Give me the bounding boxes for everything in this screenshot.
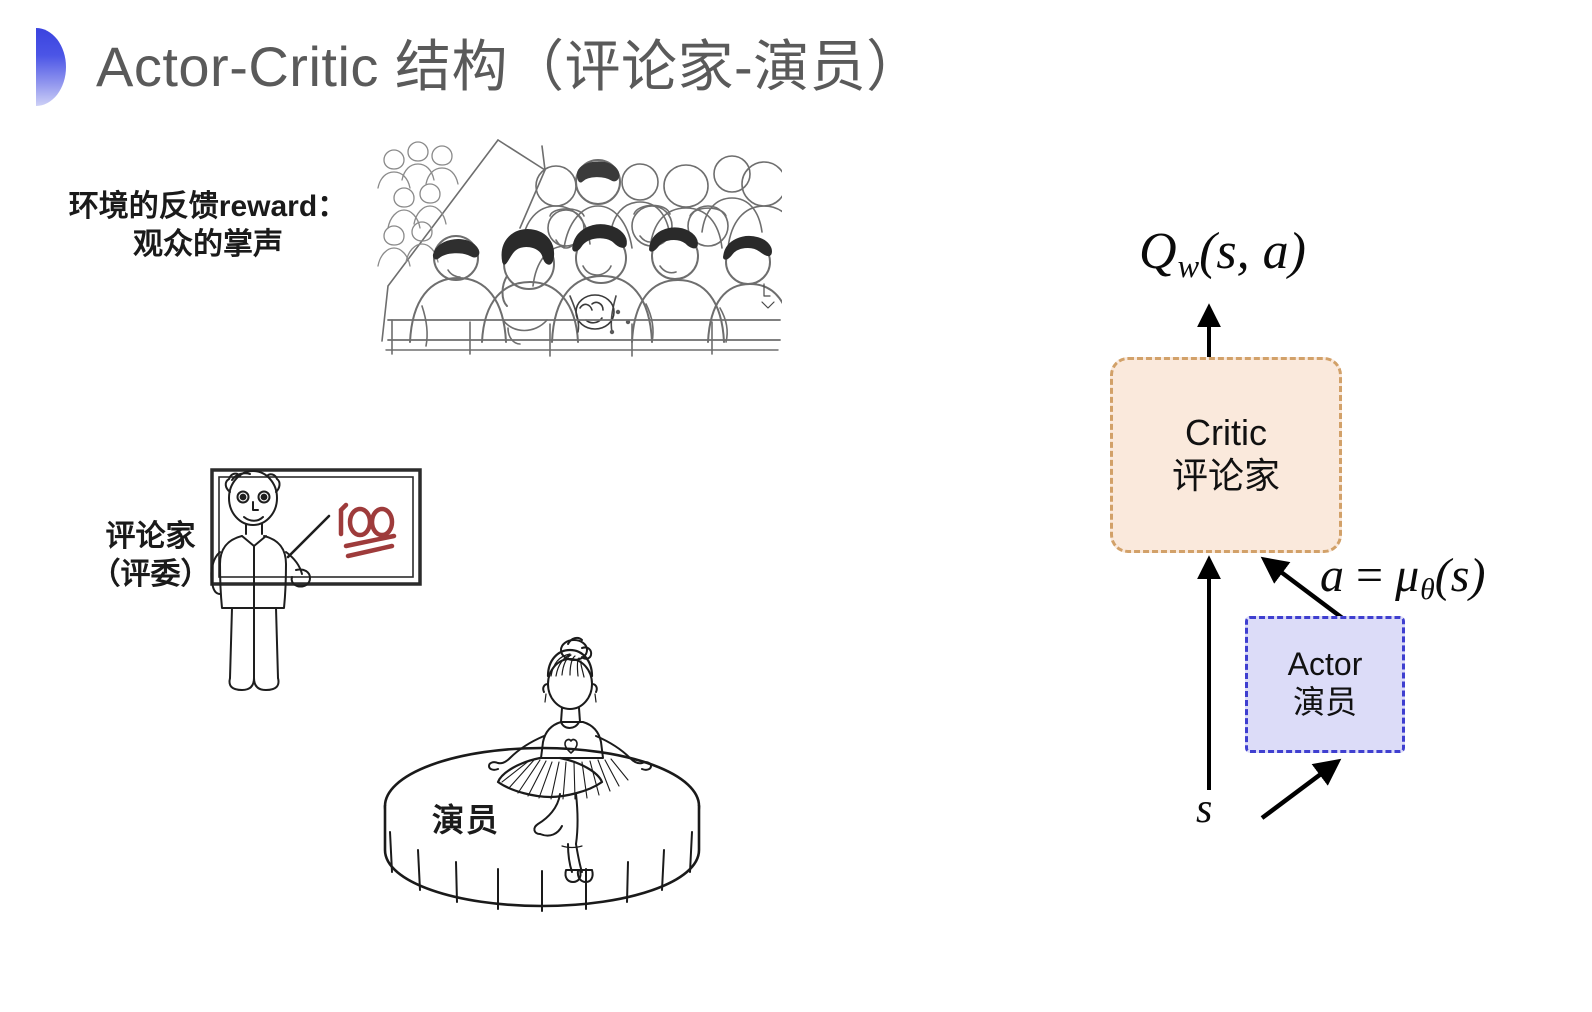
arrow-state-to-actor [1262,762,1337,818]
a-lhs: a [1320,549,1344,602]
slide-canvas: Actor-Critic 结构（评论家-演员） 环境的反馈reward： 观众的… [0,0,1592,1012]
actor-node[interactable]: Actor 演员 [1245,616,1405,753]
mu-base: μ [1395,549,1419,602]
ballerina-stage-sketch [362,632,720,920]
critic-label-zh: 评论家 [1172,454,1280,497]
title-bullet-icon [36,28,66,106]
actor-label-en: Actor [1288,647,1363,683]
critic-label-en: Critic [1185,413,1267,453]
audience-sketch [370,136,782,358]
critic-node[interactable]: Critic 评论家 [1110,357,1342,553]
q-args: (s, a) [1199,223,1306,280]
state-label: s [1196,788,1212,830]
q-subscript: w [1178,248,1200,284]
page-title: Actor-Critic 结构（评论家-演员） [36,28,923,106]
a-equals: = [1356,549,1383,602]
q-base: Q [1139,223,1177,280]
a-args: (s) [1435,549,1486,602]
output-formula: Qw(s, a) [1139,226,1306,282]
action-formula: a = μθ(s) [1320,552,1485,605]
title-text: Actor-Critic 结构（评论家-演员） [96,39,923,95]
stage-label: 演员 [432,795,500,841]
actor-label-zh: 演员 [1293,683,1357,721]
caption-reward: 环境的反馈reward： 观众的掌声 [48,188,368,265]
mu-subscript: θ [1420,573,1435,606]
